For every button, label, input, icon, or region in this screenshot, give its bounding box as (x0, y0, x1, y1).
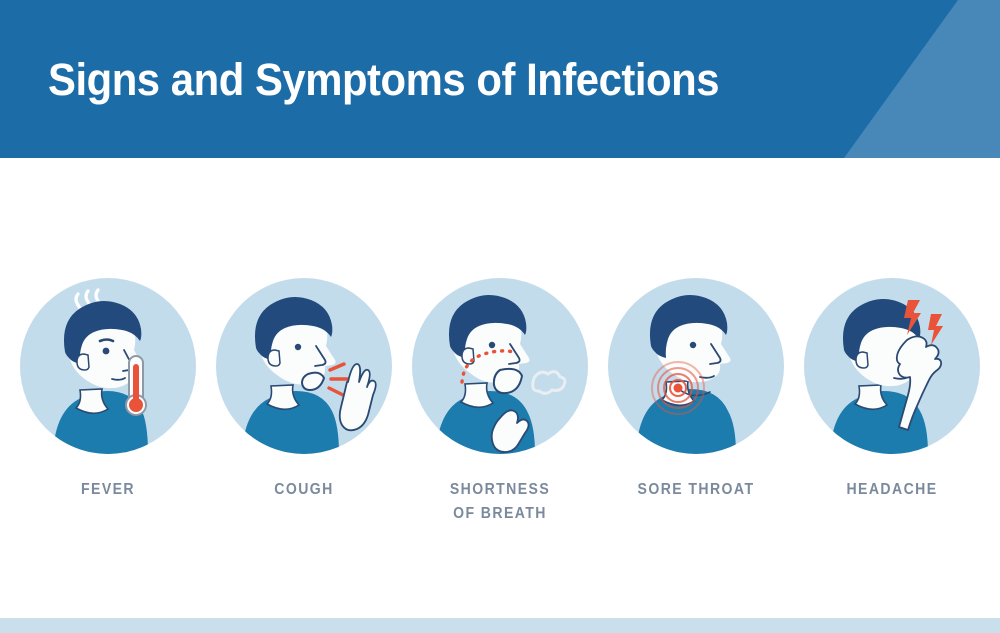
symptom-item-sore-throat[interactable] (606, 278, 786, 458)
label-line: COUGH (207, 478, 401, 502)
sore-throat-head-icon (608, 278, 784, 454)
label-line: SHORTNESS (403, 478, 597, 502)
symptom-label-headache: HEADACHE (795, 478, 989, 502)
symptom-icon-row (0, 278, 1000, 458)
symptom-label-cough: COUGH (207, 478, 401, 502)
symptom-item-shortness-of-breath[interactable] (410, 278, 590, 458)
bottom-accent-bar (0, 618, 1000, 633)
label-line: FEVER (11, 478, 205, 502)
headache-head-icon (804, 278, 980, 454)
fever-head-thermometer-icon (20, 278, 196, 454)
symptom-item-headache[interactable] (802, 278, 982, 458)
label-line: SORE THROAT (599, 478, 793, 502)
shortness-of-breath-head-icon (412, 278, 588, 454)
label-line: OF BREATH (403, 502, 597, 526)
symptom-item-cough[interactable] (214, 278, 394, 458)
label-line: HEADACHE (795, 478, 989, 502)
cough-head-hand-icon (216, 278, 392, 454)
symptom-label-shortness-of-breath: SHORTNESS OF BREATH (403, 478, 597, 526)
infographic-page: Signs and Symptoms of Infections (0, 0, 1000, 633)
symptom-label-fever: FEVER (11, 478, 205, 502)
header-diagonal-wedge (700, 0, 1000, 158)
symptom-item-fever[interactable] (18, 278, 198, 458)
symptom-labels-row: FEVER COUGH SHORTNESS OF BREATH SORE THR… (0, 478, 1000, 538)
header-banner: Signs and Symptoms of Infections (0, 0, 1000, 158)
symptom-label-sore-throat: SORE THROAT (599, 478, 793, 502)
page-title: Signs and Symptoms of Infections (48, 57, 719, 102)
